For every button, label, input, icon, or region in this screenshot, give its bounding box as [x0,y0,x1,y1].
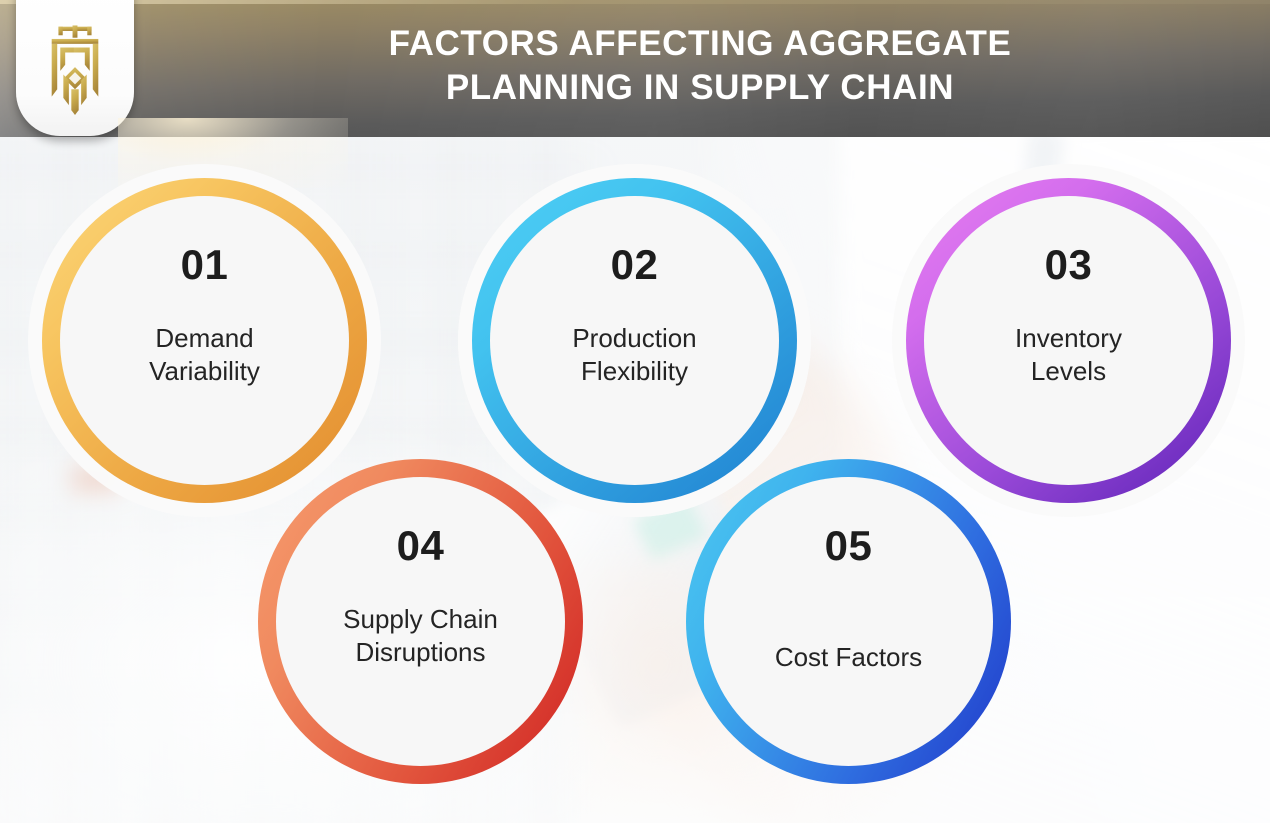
circle-number: 01 [181,244,229,286]
circle-01-demand-variability[interactable]: 01 Demand Variability [42,178,367,503]
circle-05-cost-factors[interactable]: 05 Cost Factors [686,459,1011,784]
page-title: Factors Affecting Aggregate Planning in … [150,22,1250,110]
circle-number: 04 [397,525,445,567]
circle-02-production-flexibility[interactable]: 02 Production Flexibility [472,178,797,503]
circle-label: Production Flexibility [546,322,722,387]
company-crest-logo-icon [38,23,112,115]
circle-number: 03 [1045,244,1093,286]
circle-label: Cost Factors [749,641,948,674]
header-bar: Factors Affecting Aggregate Planning in … [0,0,1270,137]
circle-label: Supply Chain Disruptions [317,603,524,668]
circle-04-supply-chain-disruptions[interactable]: 04 Supply Chain Disruptions [258,459,583,784]
circle-label: Inventory Levels [989,322,1148,387]
circle-03-inventory-levels[interactable]: 03 Inventory Levels [906,178,1231,503]
header-top-accent-line [0,0,1270,4]
circle-number: 05 [825,525,873,567]
logo-plaque[interactable] [16,0,134,136]
circle-number: 02 [611,244,659,286]
infographic-canvas: Factors Affecting Aggregate Planning in … [0,0,1270,823]
circle-label: Demand Variability [123,322,286,387]
